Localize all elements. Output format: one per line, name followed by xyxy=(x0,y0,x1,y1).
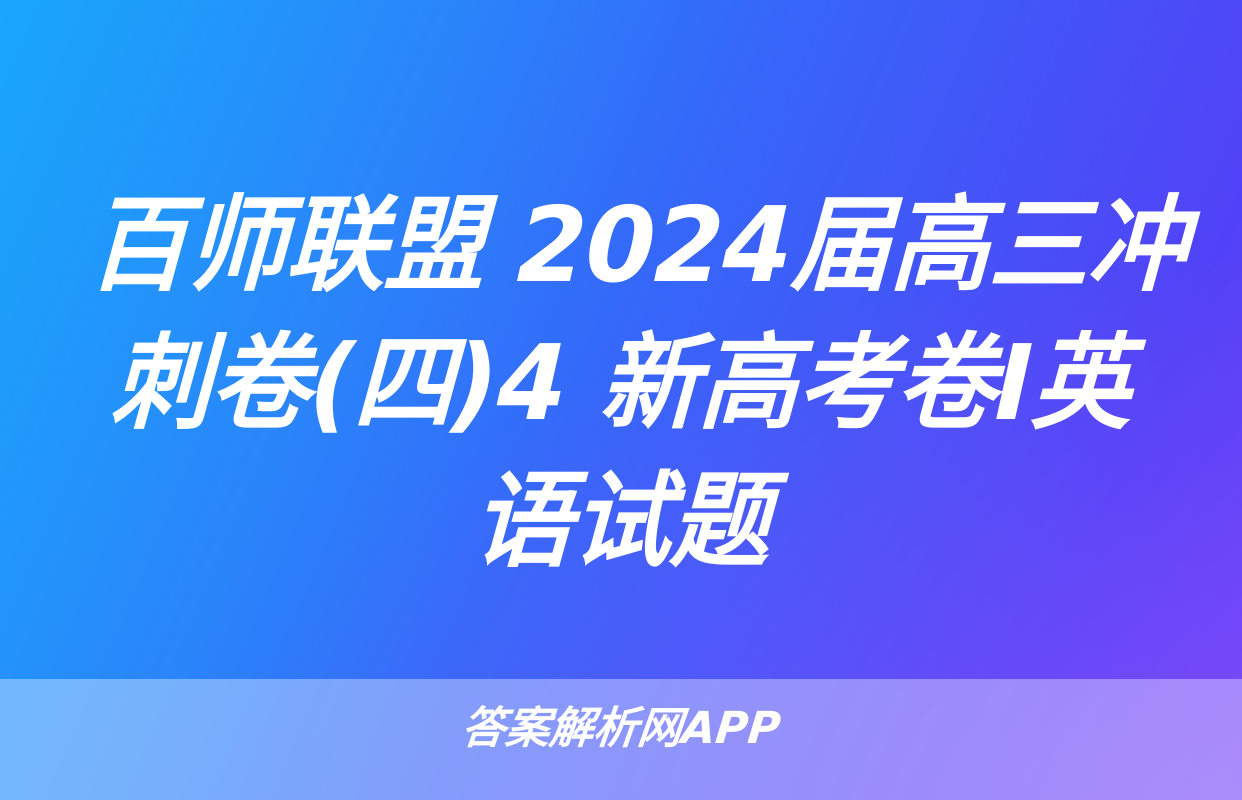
page-title-line-2: 刺卷(四)4 新高考卷Ⅰ英 xyxy=(86,314,1156,452)
page-title-line-1: 百师联盟 2024届高三冲 xyxy=(86,176,1156,314)
app-watermark: 答案解析网APP xyxy=(0,701,1242,757)
page-title-line-3: 语试题 xyxy=(86,452,1156,590)
page-title: 百师联盟 2024届高三冲 刺卷(四)4 新高考卷Ⅰ英 语试题 xyxy=(0,176,1242,590)
exam-title-card: 百师联盟 2024届高三冲 刺卷(四)4 新高考卷Ⅰ英 语试题 答案解析网APP xyxy=(0,0,1242,800)
footer-band: 答案解析网APP xyxy=(0,679,1242,800)
